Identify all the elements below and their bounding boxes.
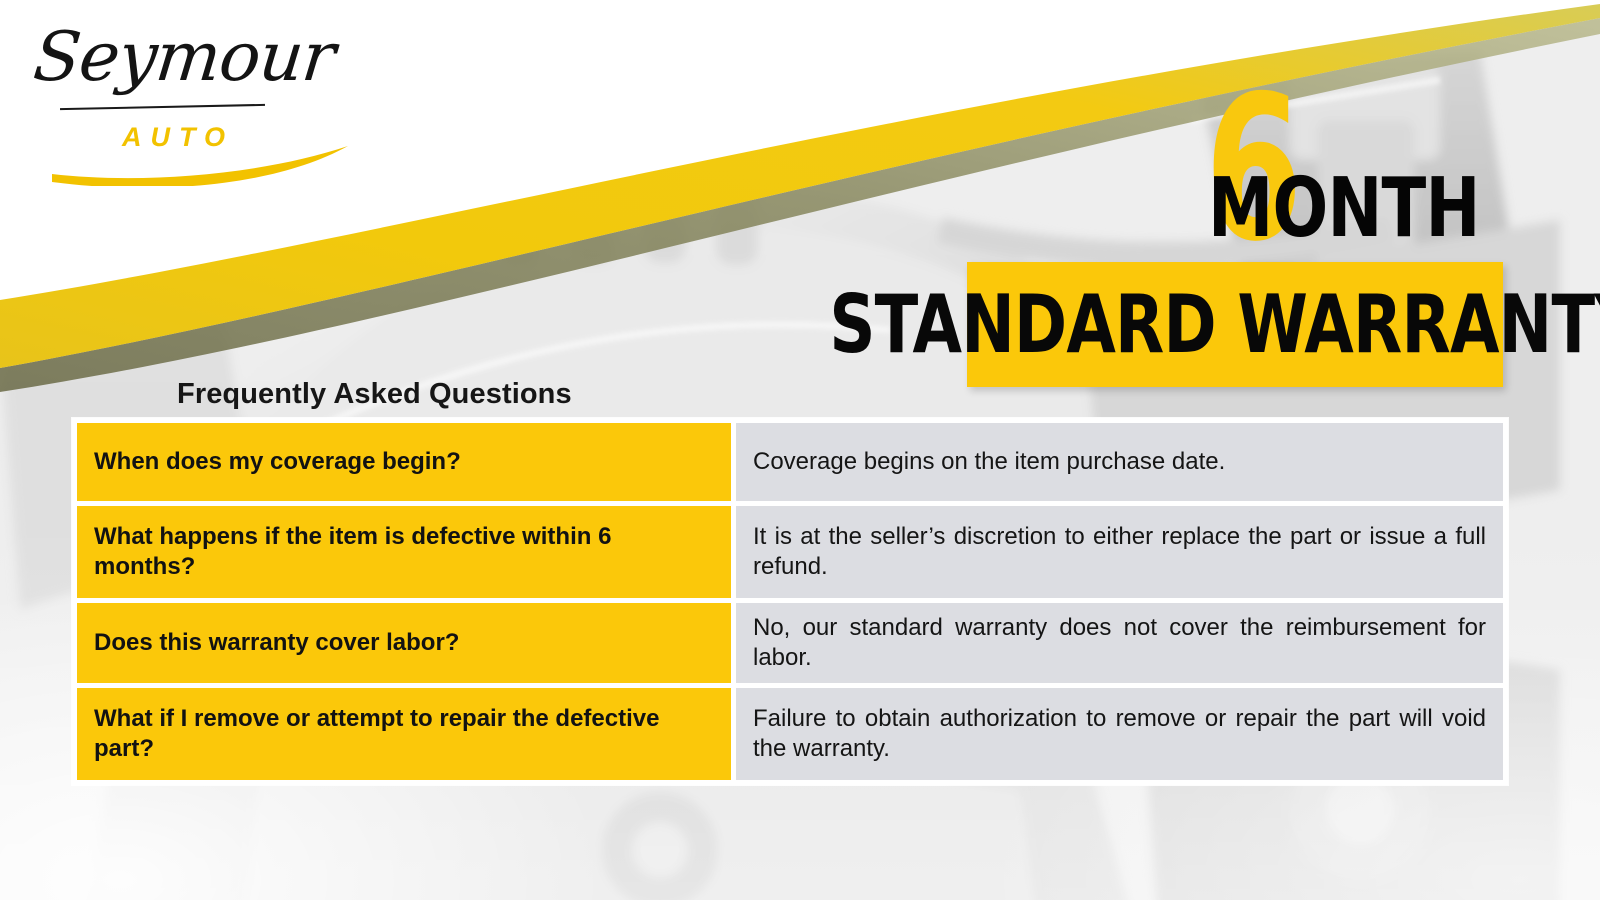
table-row: What happens if the item is defective wi… — [77, 506, 1503, 598]
duration-unit: MONTH — [1208, 176, 1480, 242]
warranty-duration: 6 MONTH — [1205, 78, 1548, 248]
faq-table: When does my coverage begin? Coverage be… — [72, 418, 1508, 785]
faq-answer: Coverage begins on the item purchase dat… — [736, 423, 1503, 501]
faq-question: What happens if the item is defective wi… — [77, 506, 731, 598]
seymour-auto-logo: Seymour AUTO — [30, 22, 330, 172]
logo-script-text: Seymour — [30, 24, 337, 92]
table-row: When does my coverage begin? Coverage be… — [77, 423, 1503, 501]
faq-question: Does this warranty cover labor? — [77, 603, 731, 683]
faq-answer: No, our standard warranty does not cover… — [736, 603, 1503, 683]
faq-question: When does my coverage begin? — [77, 423, 731, 501]
warranty-slide: Seymour AUTO 6 MONTH STANDARD WARRANTY F… — [0, 0, 1600, 900]
table-row: What if I remove or attempt to repair th… — [77, 688, 1503, 780]
faq-answer: It is at the seller’s discretion to eith… — [736, 506, 1503, 598]
logo-underline — [60, 104, 265, 110]
standard-warranty-title: STANDARD WARRANTY — [830, 285, 1600, 365]
logo-swoosh-icon — [48, 140, 358, 186]
faq-answer: Failure to obtain authorization to remov… — [736, 688, 1503, 780]
standard-warranty-banner: STANDARD WARRANTY — [967, 262, 1503, 387]
faq-question: What if I remove or attempt to repair th… — [77, 688, 731, 780]
table-row: Does this warranty cover labor? No, our … — [77, 603, 1503, 683]
faq-heading: Frequently Asked Questions — [177, 379, 572, 411]
